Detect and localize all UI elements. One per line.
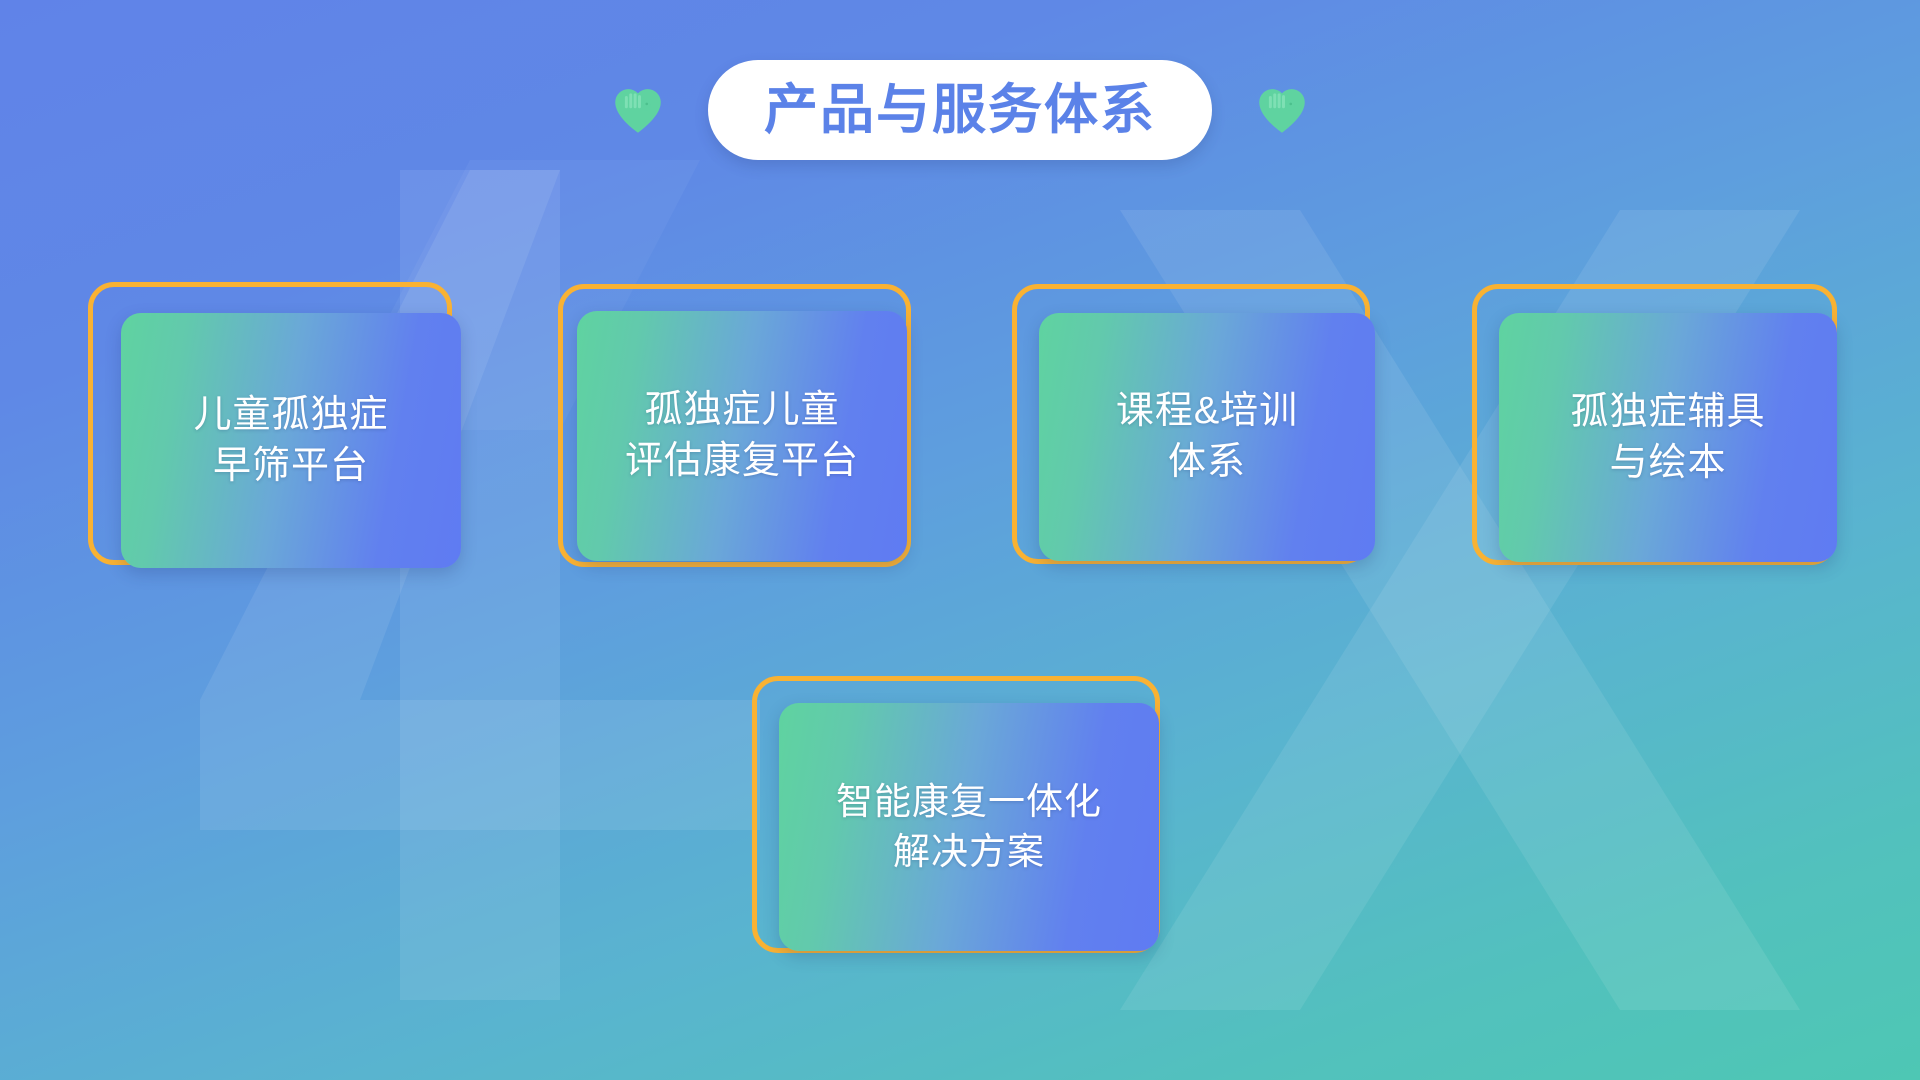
product-card-panel: 课程&培训 体系: [1039, 313, 1375, 561]
product-card-aids-picturebooks[interactable]: 孤独症辅具 与绘本: [1472, 284, 1837, 565]
heart-hand-icon-left: [610, 82, 666, 138]
product-card-assessment-rehab[interactable]: 孤独症儿童 评估康复平台: [558, 284, 911, 567]
slide-canvas: 产品与服务体系 儿童孤独症 早筛平台 孤独症儿童 评估康复平台: [0, 0, 1920, 1080]
heart-hand-icon-right: [1254, 82, 1310, 138]
product-card-early-screening[interactable]: 儿童孤独症 早筛平台: [88, 282, 452, 565]
title-row: 产品与服务体系: [0, 52, 1920, 168]
product-card-label: 课程&培训 体系: [1116, 386, 1298, 488]
product-card-panel: 孤独症儿童 评估康复平台: [577, 311, 907, 561]
product-card-label: 儿童孤独症 早筛平台: [193, 390, 388, 492]
product-card-integrated-solution[interactable]: 智能康复一体化 解决方案: [752, 676, 1160, 953]
product-card-panel: 智能康复一体化 解决方案: [779, 703, 1159, 951]
product-card-panel: 儿童孤独症 早筛平台: [121, 313, 461, 568]
product-card-panel: 孤独症辅具 与绘本: [1499, 313, 1837, 562]
product-card-course-training[interactable]: 课程&培训 体系: [1012, 284, 1370, 564]
page-title: 产品与服务体系: [764, 83, 1156, 137]
product-card-label: 智能康复一体化 解决方案: [836, 777, 1102, 876]
product-card-label: 孤独症儿童 评估康复平台: [625, 385, 859, 487]
product-card-label: 孤独症辅具 与绘本: [1570, 387, 1765, 489]
slide-title-pill: 产品与服务体系: [708, 60, 1212, 160]
